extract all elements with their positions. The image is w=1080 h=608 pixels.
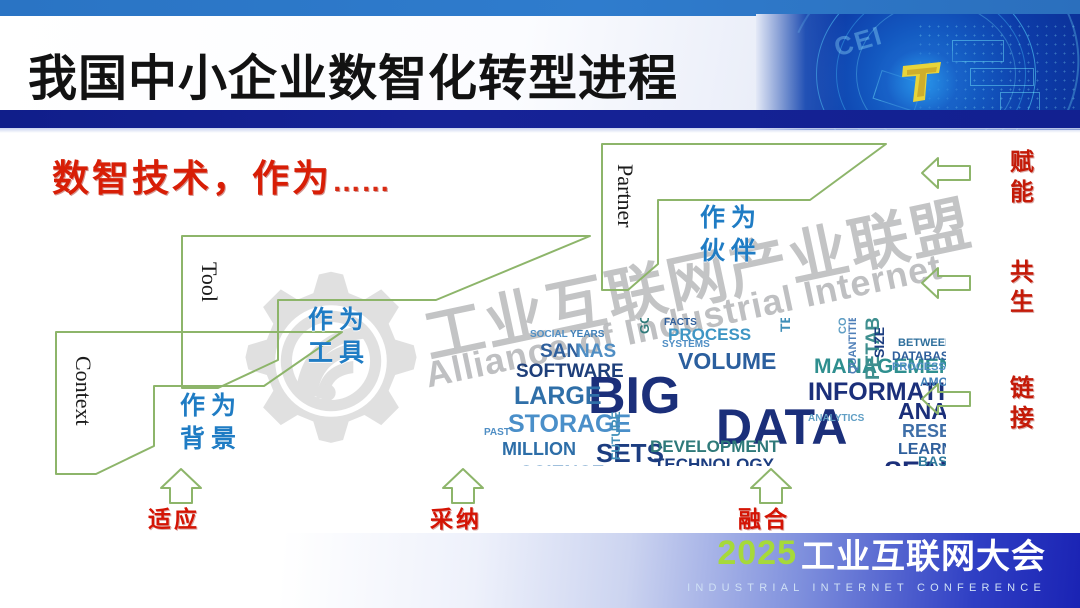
word-cloud-term: PAST [484,428,510,438]
side-label-3-text: 链接 [1002,374,1042,434]
word-cloud-term: RESEARCH [902,422,946,440]
word-cloud-term: TECHNOLOGY [654,456,774,466]
stage-cn-line2-partner: 伙伴 [700,235,762,268]
headline-ellipsis: …… [332,166,390,198]
side-label-1: 赋能 [1002,148,1042,208]
word-cloud-term: FUTURE [610,411,622,460]
conference-logo: 2025工业互联网大会 INDUSTRIAL INTERNET CONFEREN… [687,529,1046,594]
stage-label-cn-partner: 作为 伙伴 [700,202,762,268]
stage-cn-line1-context: 作为 [180,390,242,423]
stage-label-en-tool: Tool [196,262,222,302]
conference-year: 2025 [717,534,797,572]
word-cloud-term: SOFTWARE [516,362,624,381]
word-cloud-term: VOLUME [678,350,776,373]
word-cloud-term: MILLION [502,440,576,458]
side-label-3: 链接 [1002,374,1042,434]
chevron-banner-partner [598,140,928,300]
stage-label-en-partner: Partner [612,164,638,228]
word-cloud-term: FACTS [664,318,697,328]
word-cloud-term: SYSTEMS [662,340,710,350]
word-cloud-term: TECHNOLOGIES [778,318,792,332]
footer-band: 2025工业互联网大会 INDUSTRIAL INTERNET CONFEREN… [0,533,1080,608]
t-logo-icon [899,60,945,104]
word-cloud-term: YEARS [570,330,604,340]
word-cloud-term: SCIENCE [520,464,604,466]
conference-name-en: INDUSTRIAL INTERNET CONFERENCE [687,582,1046,594]
arrow-left-icon-2 [918,262,974,304]
headline-text: 数智技术，作为 [52,158,332,199]
word-cloud-term: PROCESSING [892,362,946,373]
word-cloud-term: SAN [540,342,580,361]
arrow-left-icon-1 [918,152,974,194]
word-cloud-term: BETWEEN [898,338,946,349]
word-cloud-term: SIZE [872,327,886,358]
stage-block-partner[interactable]: Partner 作为 伙伴 [598,140,928,300]
stage-cn-line1-partner: 作为 [700,202,762,235]
arrow-left-icon-3 [918,378,974,420]
slide-root: 我国中小企业数智化转型进程 CEI 工业互联网产业联盟 [0,0,1080,608]
word-cloud-term: GOVERNMENT [638,318,651,334]
word-cloud-term: LARGE [514,384,602,409]
bottom-label-2: 采纳 [430,500,482,534]
side-label-2: 共生 [1002,258,1042,318]
word-cloud-term: BASED [918,454,946,466]
word-cloud-term: NAS [576,342,616,361]
header-navy-bar [0,110,1080,128]
stage-label-en-context: Context [70,356,96,426]
header-bar-shadow [0,128,1080,133]
stage-label-cn-context: 作为 背景 [180,390,242,456]
side-label-2-text: 共生 [1002,258,1042,318]
section-headline: 数智技术，作为…… [52,148,390,202]
stage-cn-line2-context: 背景 [180,423,242,456]
conference-name-cn: 工业互联网大会 [801,538,1046,576]
stage-label-cn-tool: 作为 工具 [308,304,370,370]
word-cloud-term: SOCIAL [530,330,568,340]
side-label-1-text: 赋能 [1002,148,1042,208]
page-title: 我国中小企业数智化转型进程 [28,46,728,112]
stage-cn-line1-tool: 作为 [308,304,370,337]
bottom-label-1: 适应 [148,500,200,534]
tech-schematic-2 [970,68,1034,86]
word-cloud-term: ANALYTICS [808,414,864,424]
word-cloud-term: QUANTITIES [848,318,859,374]
stage-cn-line2-tool: 工具 [308,337,370,370]
big-data-word-cloud: BIGDATASTORAGELARGESOFTWARESETSMILLIONSC… [478,318,946,466]
word-cloud-term: DEVELOPMENT [650,438,779,455]
